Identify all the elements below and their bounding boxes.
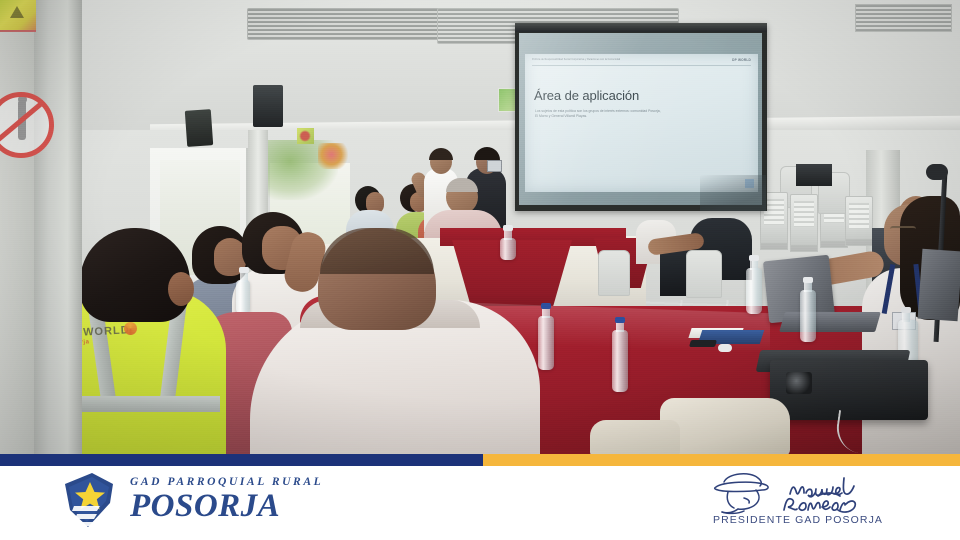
stacked-chairs [845,196,873,246]
slide-body-text: Los sujetos de esta política son los gru… [535,109,663,120]
left-pillar [34,0,82,454]
footer: GAD PARROQUIAL RURAL POSORJA [0,454,960,540]
loudspeaker [185,109,213,147]
dp-world-mark-icon [124,322,137,335]
water-bottle [800,290,816,342]
air-vent-icon [247,8,439,40]
footer-bar-blue [0,454,483,466]
manuel-romero-signature-logo [698,468,898,516]
posorja-wordmark: GAD PARROQUIAL RURAL POSORJA [130,477,323,523]
water-bottle [746,268,762,314]
microphone-icon [926,164,948,180]
laptop [918,249,960,322]
footer-content: GAD PARROQUIAL RURAL POSORJA [0,466,960,540]
plastic-chair [686,250,722,298]
left-wall [0,0,36,454]
attendee-ear [168,272,194,306]
presentation-slide: Política de Responsabilidad Social Corpo… [525,54,758,192]
screenshot-root: Política de Responsabilidad Social Corpo… [0,0,960,540]
slide-title: Área de aplicación [534,88,639,103]
wall-artwork [297,128,313,144]
water-bottle [612,330,628,392]
posorja-brand: GAD PARROQUIAL RURAL POSORJA [60,470,323,530]
water-bottle [500,238,516,260]
projector-lens [786,372,812,394]
slide-divider [532,65,751,66]
chair-cushion [590,420,680,454]
slide-eyebrow: Política de Responsabilidad Social Corpo… [532,59,620,61]
plastic-chair [598,250,630,296]
projection-screen-roller [515,23,767,32]
stacked-chairs [790,194,818,252]
water-bottle [236,280,250,314]
wall-monitor [796,164,832,186]
remote-control [689,340,717,347]
screen-shadow [700,175,766,211]
president-brand: PRESIDENTE GAD POSORJA [698,468,898,526]
posorja-shield-logo [60,470,118,530]
slide-header: Política de Responsabilidad Social Corpo… [532,58,751,62]
dp-world-logo: DP WORLD [732,58,751,62]
loudspeaker [253,85,283,127]
hazard-poster-icon [0,0,36,32]
smartphone [487,160,502,172]
brand-name: POSORJA [130,490,323,523]
eyeglasses-icon [890,226,916,234]
footer-bar-gold [483,454,960,466]
meeting-photograph: Política de Responsabilidad Social Corpo… [0,0,960,454]
air-vent-icon [855,4,952,32]
laptop-keyboard [779,312,881,332]
computer-mouse [718,344,732,352]
flower-arrangement [318,143,348,169]
water-bottle [538,316,554,370]
